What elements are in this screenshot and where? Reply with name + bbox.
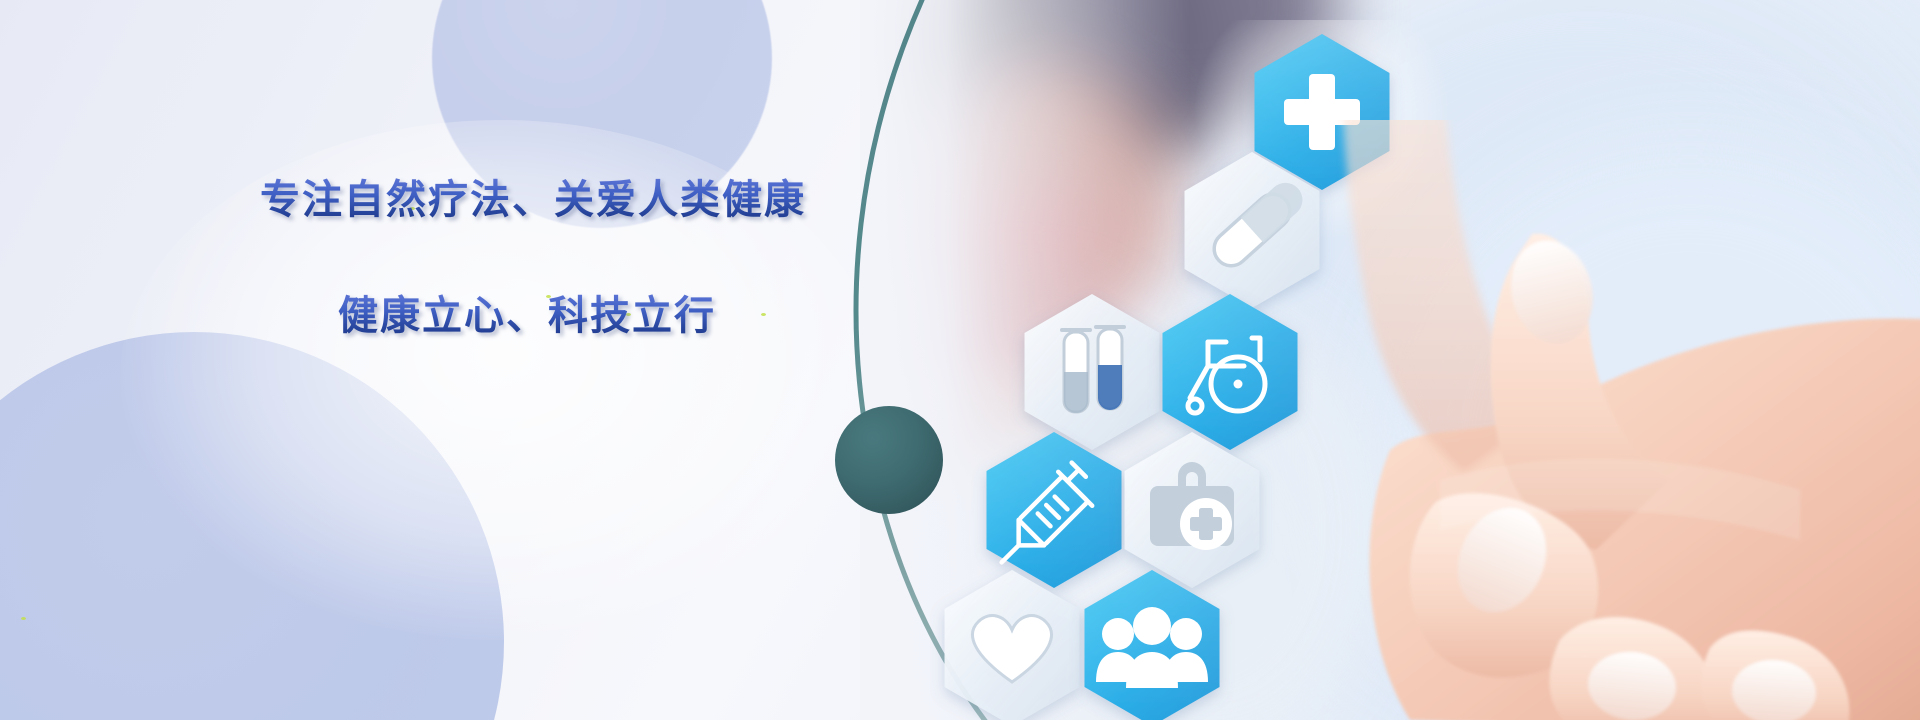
hex-testtubes: [1025, 294, 1160, 450]
headline-line-1: 专注自然疗法、关爱人类健康: [260, 178, 900, 222]
deco-circle-bottom-left: [0, 332, 504, 720]
teal-arc-node: [835, 406, 943, 514]
sparkle-speck: [21, 617, 26, 620]
pointing-hand: [1240, 120, 1920, 720]
hex-heart: [945, 570, 1080, 720]
headline-block: 专注自然疗法、关爱人类健康 健康立心、科技立行: [260, 178, 900, 338]
hexagon-shape: [1025, 294, 1160, 450]
headline-line-2: 健康立心、科技立行: [338, 294, 900, 338]
hex-people: [1085, 570, 1220, 720]
hex-syringe: [985, 432, 1122, 588]
health-banner: 专注自然疗法、关爱人类健康 健康立心、科技立行: [0, 0, 1920, 720]
